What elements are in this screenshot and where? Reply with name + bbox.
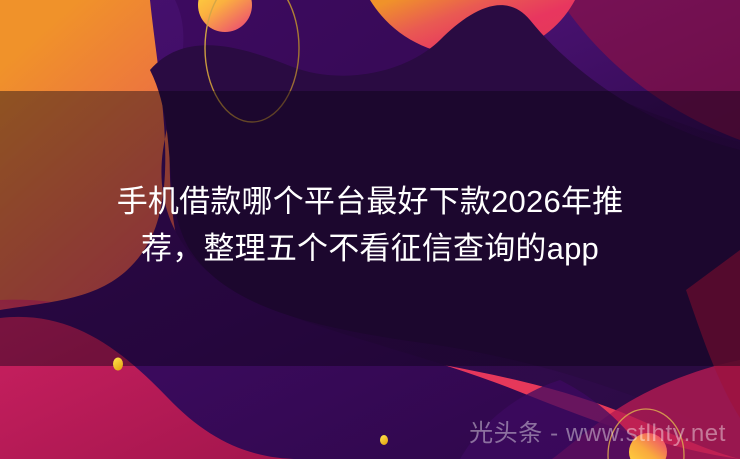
background-artwork <box>0 0 740 459</box>
accent-dot-center-icon <box>380 435 388 445</box>
site-watermark: 光头条 - www.stlhty.net <box>469 419 726 449</box>
accent-dot-left-icon <box>113 358 123 371</box>
dim-overlay-band <box>0 91 740 366</box>
poster-canvas: 手机借款哪个平台最好下款2026年推 荐，整理五个不看征信查询的app 光头条 … <box>0 0 740 459</box>
